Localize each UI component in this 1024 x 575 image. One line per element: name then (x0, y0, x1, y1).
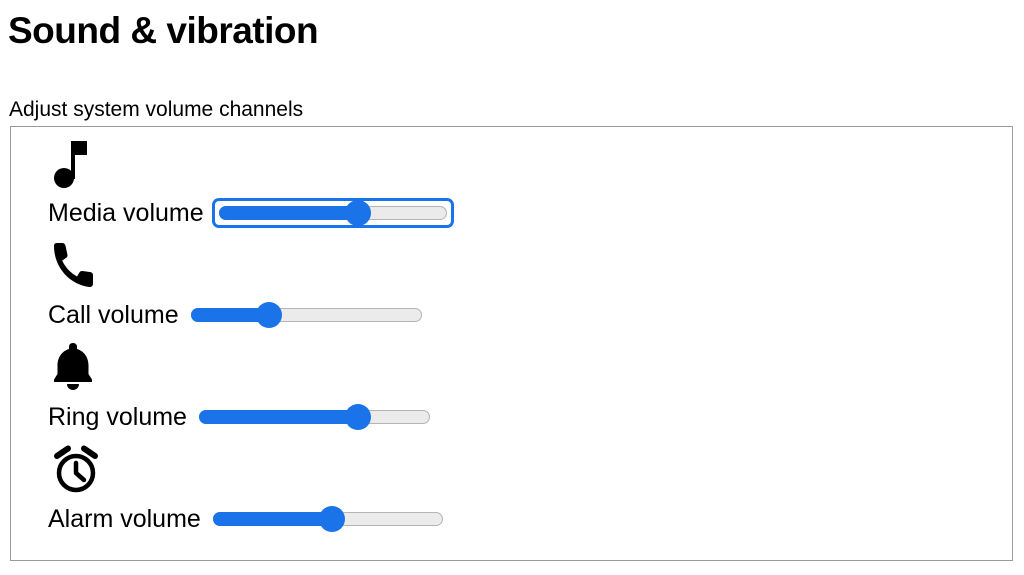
media-volume-label: Media volume (48, 198, 204, 228)
ring-volume-control: Ring volume (48, 395, 430, 439)
section-subtitle: Adjust system volume channels (9, 96, 303, 124)
volume-row-ring: Ring volume (11, 339, 1012, 441)
call-volume-track[interactable] (191, 308, 422, 322)
media-volume-fill (219, 206, 357, 220)
media-volume-slider[interactable] (212, 198, 454, 228)
bell-ring-icon (51, 339, 103, 395)
alarm-volume-label: Alarm volume (48, 504, 201, 534)
alarm-volume-control: Alarm volume (48, 497, 443, 541)
media-volume-track[interactable] (219, 206, 447, 220)
page-title: Sound & vibration (8, 8, 318, 54)
volume-row-alarm: Alarm volume (11, 441, 1012, 543)
ring-volume-slider[interactable] (199, 410, 430, 424)
call-volume-slider[interactable] (191, 308, 422, 322)
volume-row-call: Call volume (11, 237, 1012, 339)
volume-row-media: Media volume (11, 135, 1012, 237)
ring-volume-track[interactable] (199, 410, 430, 424)
alarm-volume-fill (213, 512, 332, 526)
alarm-volume-track[interactable] (213, 512, 443, 526)
ring-volume-thumb[interactable] (345, 404, 371, 430)
alarm-volume-thumb[interactable] (319, 506, 345, 532)
alarm-volume-slider[interactable] (213, 512, 443, 526)
volume-channels-panel: Media volume Call volume (10, 126, 1013, 561)
alarm-clock-icon (51, 441, 103, 497)
media-volume-thumb[interactable] (345, 200, 371, 226)
ring-volume-fill (199, 410, 357, 424)
ring-volume-label: Ring volume (48, 402, 187, 432)
call-volume-thumb[interactable] (256, 302, 282, 328)
music-note-icon (51, 135, 103, 191)
media-volume-control: Media volume (48, 191, 454, 235)
call-volume-control: Call volume (48, 293, 422, 337)
phone-call-icon (51, 237, 103, 293)
call-volume-label: Call volume (48, 300, 179, 330)
